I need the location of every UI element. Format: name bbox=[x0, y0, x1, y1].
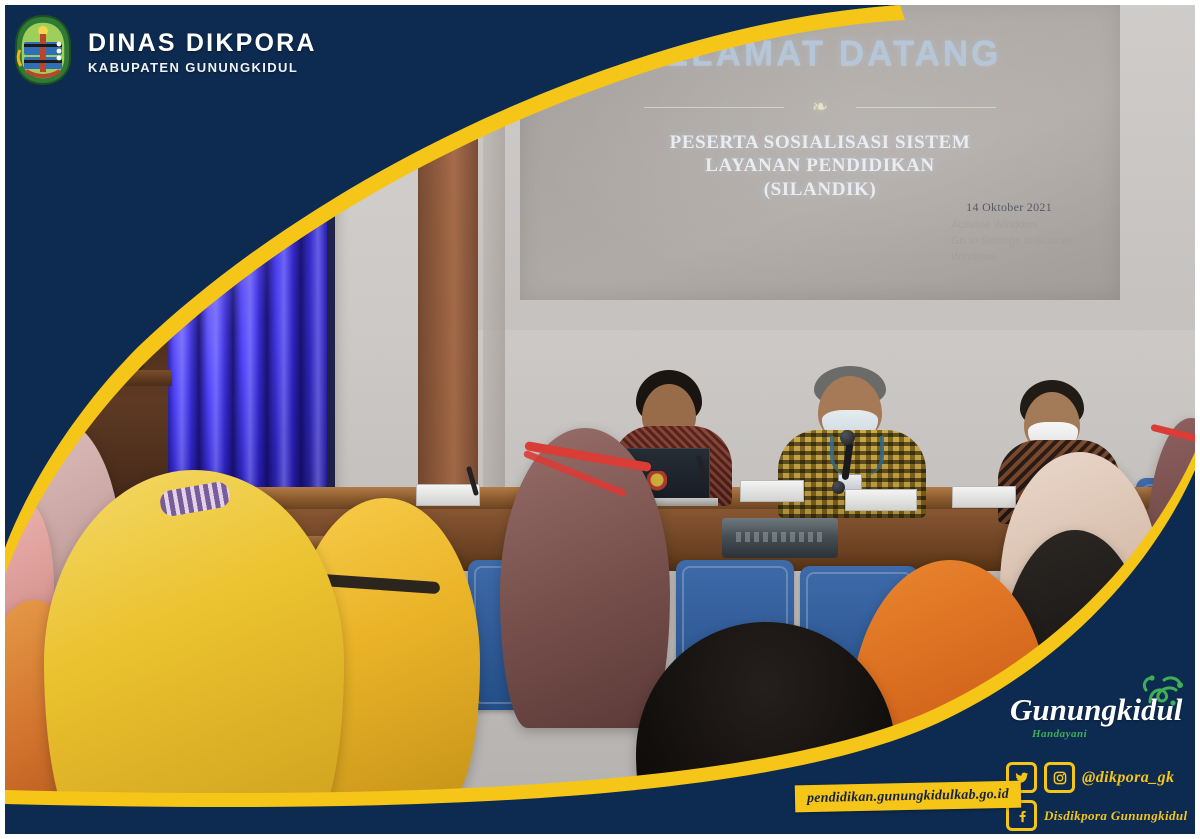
slide-subtitle-line1: PESERTA SOSIALISASI SISTEM bbox=[670, 132, 971, 154]
name-plate bbox=[952, 486, 1016, 508]
page-subtitle: KABUPATEN GUNUNGKIDUL bbox=[88, 61, 317, 74]
banner-canvas: SELAMAT DATANG ❧ PESERTA SOSIALISASI SIS… bbox=[0, 0, 1200, 839]
podium-carving bbox=[6, 338, 156, 374]
wood-pillar-left bbox=[418, 0, 478, 520]
slide-date: 14 Oktober 2021 bbox=[966, 200, 1052, 215]
slide-subtitle-line2: LAYANAN PENDIDIKAN bbox=[705, 155, 935, 177]
attendee-hijab-yellow-front bbox=[44, 470, 344, 839]
lanyard bbox=[830, 436, 884, 476]
page-title: DINAS DIKPORA bbox=[88, 31, 317, 56]
projector-vents bbox=[736, 532, 822, 542]
watermark-line-1: Activate Windows bbox=[951, 218, 1074, 234]
gunungkidul-regency-crest-icon bbox=[12, 14, 74, 86]
slide-welcome-title: SELAMAT DATANG bbox=[639, 34, 1002, 74]
name-plate bbox=[845, 489, 917, 511]
name-plate bbox=[740, 480, 804, 502]
watermark-line-2: Go to Settings to activate bbox=[951, 234, 1074, 250]
instagram-icon[interactable] bbox=[1044, 762, 1075, 793]
region-logo-tagline: Handayani bbox=[1032, 728, 1188, 740]
slide-ornament-icon: ❧ bbox=[812, 98, 828, 117]
curtain-rod bbox=[58, 106, 348, 114]
slide-subtitle-line3: (SILANDIK) bbox=[764, 179, 877, 201]
podium-top bbox=[0, 370, 172, 386]
podium-plaque bbox=[30, 400, 64, 409]
social-links: @dikpora_gk Disdikpora Gunungkidul bbox=[1006, 762, 1192, 838]
wall-strip bbox=[483, 0, 505, 520]
video-projector bbox=[722, 518, 838, 558]
windows-activation-watermark: Activate Windows Go to Settings to activ… bbox=[951, 218, 1074, 266]
slide-divider: ❧ bbox=[644, 96, 996, 118]
social-handle-instagram[interactable]: @dikpora_gk bbox=[1082, 769, 1174, 787]
curtain-backlight bbox=[75, 136, 301, 326]
header-brand: DINAS DIKPORA KABUPATEN GUNUNGKIDUL bbox=[12, 14, 317, 86]
microphone-head bbox=[840, 430, 855, 445]
social-row-bottom: Disdikpora Gunungkidul bbox=[1006, 800, 1192, 831]
website-url-badge[interactable]: pendidikan.gunungkidulkab.go.id bbox=[795, 781, 1021, 813]
name-plate bbox=[416, 484, 480, 506]
batik-flourish-icon bbox=[1140, 672, 1186, 712]
social-row-top: @dikpora_gk bbox=[1006, 762, 1192, 793]
website-url-text: pendidikan.gunungkidulkab.go.id bbox=[807, 787, 1009, 806]
microphone-head bbox=[832, 481, 845, 494]
watermark-line-3: Windows. bbox=[951, 250, 1074, 266]
projection-screen: SELAMAT DATANG ❧ PESERTA SOSIALISASI SIS… bbox=[520, 0, 1120, 300]
social-handle-facebook[interactable]: Disdikpora Gunungkidul bbox=[1044, 808, 1188, 824]
region-logo: Gunungkidul Handayani bbox=[1010, 694, 1188, 740]
